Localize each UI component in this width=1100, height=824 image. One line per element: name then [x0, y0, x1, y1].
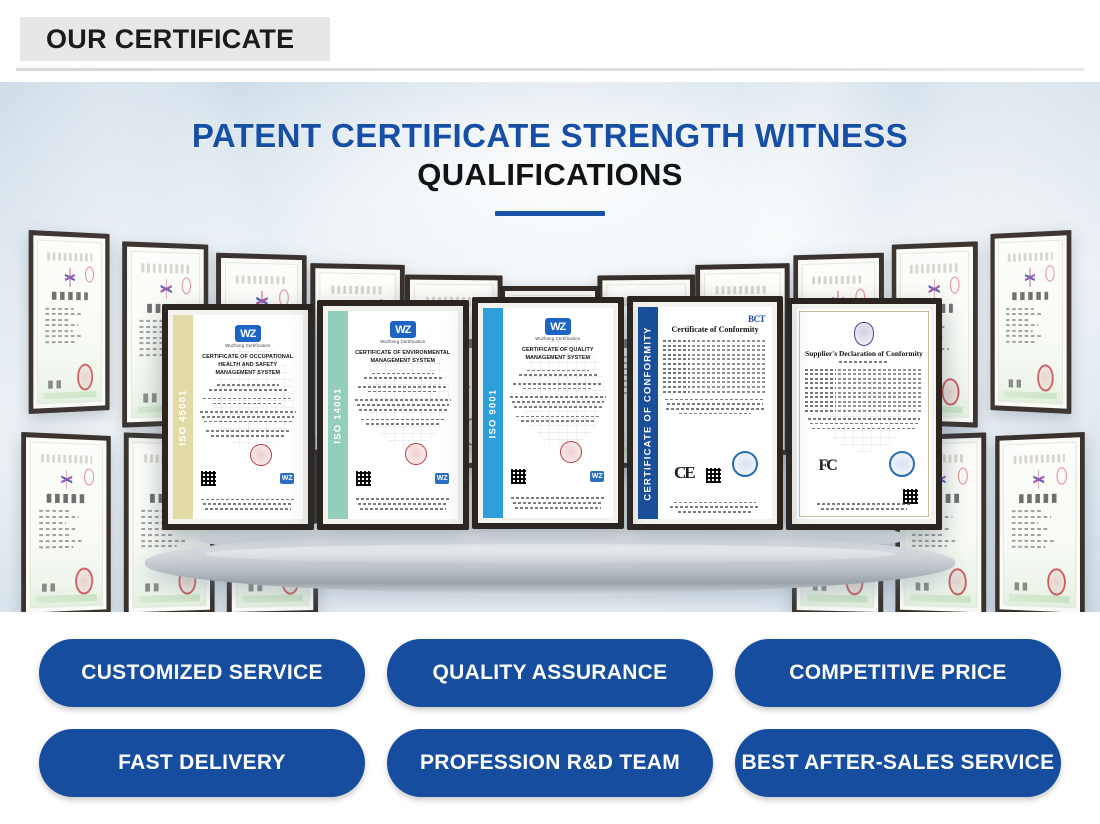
declaration-table — [805, 369, 923, 412]
title-accent-bar — [495, 211, 605, 216]
qr-code-icon — [511, 469, 526, 484]
certificate-title: CERTIFICATE OF QUALITY MANAGEMENT SYSTEM — [508, 347, 609, 363]
certificate-side-band: CERTIFICATE OF CONFORMITY — [638, 307, 658, 519]
feature-button-4[interactable]: FAST DELIVERY — [39, 729, 365, 797]
feature-button-label: COMPETITIVE PRICE — [789, 661, 1006, 685]
front-certificate-certificate-of-conformity[interactable]: CERTIFICATE OF CONFORMITYBCTCertificate … — [627, 296, 783, 530]
ce-mark-icon: CE — [674, 463, 694, 483]
feature-button-label: FAST DELIVERY — [118, 751, 286, 775]
certificate-body: BCTCertificate of ConformityCE — [658, 307, 772, 519]
certificate-paper: Supplier's Declaration of ConformityFC — [797, 309, 931, 519]
qr-code-icon — [356, 471, 371, 486]
certificate-body: WZWuzhong CertificationCERTIFICATE OF EN… — [348, 311, 459, 519]
certificate-paper: CERTIFICATE OF CONFORMITYBCTCertificate … — [638, 307, 772, 519]
certificate-notes — [663, 399, 767, 415]
certificate-title: CERTIFICATE OF OCCUPATIONAL HEALTH AND S… — [198, 354, 299, 377]
certificate-title: CERTIFICATE OF ENVIRONMENTAL MANAGEMENT … — [353, 350, 454, 366]
certifier-name: Wuzhong Certification — [508, 336, 609, 341]
feature-button-grid: CUSTOMIZED SERVICEQUALITY ASSURANCECOMPE… — [0, 612, 1100, 824]
bct-logo-icon: BCT — [748, 314, 765, 324]
page-title: OUR CERTIFICATE — [20, 24, 295, 55]
certificate-body: WZWuzhong CertificationCERTIFICATE OF OC… — [193, 315, 304, 519]
crest-icon — [854, 322, 874, 346]
testing-seal-icon — [732, 451, 758, 477]
red-stamp-icon — [405, 443, 427, 465]
feature-button-5[interactable]: PROFESSION R&D TEAM — [387, 729, 713, 797]
certificate-paper: ISO 9001WZWuzhong CertificationCERTIFICA… — [483, 308, 613, 518]
feature-button-6[interactable]: BEST AFTER-SALES SERVICE — [735, 729, 1061, 797]
certificate-body: Supplier's Declaration of ConformityFC — [797, 309, 931, 519]
banner-title-secondary: QUALIFICATIONS — [0, 157, 1100, 194]
certificate-fineprint — [354, 498, 451, 512]
front-certificate-iso-14001[interactable]: ISO 14001WZWuzhong CertificationCERTIFIC… — [317, 300, 469, 530]
accreditation-badge-icon: WZ — [280, 473, 294, 484]
certificate-side-band: ISO 45001 — [173, 315, 193, 519]
certificate-title: Certificate of Conformity — [663, 325, 767, 334]
accreditation-badge-icon: WZ — [435, 473, 449, 484]
front-certificate-iso-45001[interactable]: ISO 45001WZWuzhong CertificationCERTIFIC… — [162, 304, 314, 530]
qr-code-icon — [706, 468, 721, 483]
banner-title-block: PATENT CERTIFICATE STRENGTH WITNESS QUAL… — [0, 118, 1100, 216]
certificate-side-label: ISO 45001 — [177, 389, 188, 445]
feature-button-label: CUSTOMIZED SERVICE — [81, 661, 323, 685]
red-stamp-icon — [250, 444, 272, 466]
accreditation-badge-icon: WZ — [590, 471, 604, 482]
certificate-body: WZWuzhong CertificationCERTIFICATE OF QU… — [503, 308, 614, 518]
certificate-paper: ISO 14001WZWuzhong CertificationCERTIFIC… — [328, 311, 458, 519]
testing-seal-icon — [889, 451, 915, 477]
wz-logo-icon: WZ — [545, 318, 571, 335]
certificate-fineprint — [810, 503, 917, 513]
qr-code-icon — [201, 471, 216, 486]
header-divider — [16, 68, 1084, 71]
feature-button-label: PROFESSION R&D TEAM — [420, 751, 680, 775]
certificate-fineprint — [199, 499, 296, 513]
certificate-side-label: ISO 9001 — [487, 388, 498, 438]
certificate-fineprint — [509, 497, 606, 511]
feature-button-label: BEST AFTER-SALES SERVICE — [742, 751, 1055, 775]
wz-logo-icon: WZ — [235, 325, 261, 342]
certificate-side-label: ISO 14001 — [332, 387, 343, 443]
certifier-name: Wuzhong Certification — [353, 339, 454, 344]
feature-button-3[interactable]: COMPETITIVE PRICE — [735, 639, 1061, 707]
page-header: OUR CERTIFICATE — [0, 0, 1100, 82]
front-certificate-iso-9001[interactable]: ISO 9001WZWuzhong CertificationCERTIFICA… — [472, 297, 624, 529]
front-certificate-suppliers-declaration[interactable]: Supplier's Declaration of ConformityFC — [786, 298, 942, 530]
conformity-table — [663, 340, 767, 393]
fcc-mark-icon: FC — [818, 457, 835, 475]
feature-button-label: QUALITY ASSURANCE — [433, 661, 668, 685]
certificate-notes — [805, 418, 923, 429]
feature-button-2[interactable]: QUALITY ASSURANCE — [387, 639, 713, 707]
certificate-page: OUR CERTIFICATE PATENT CERTIFICATE STREN… — [0, 0, 1100, 824]
certificate-paper: ISO 45001WZWuzhong CertificationCERTIFIC… — [173, 315, 303, 519]
certifier-name: Wuzhong Certification — [198, 343, 299, 348]
certificate-side-label: CERTIFICATE OF CONFORMITY — [643, 326, 654, 500]
feature-button-1[interactable]: CUSTOMIZED SERVICE — [39, 639, 365, 707]
certificate-fineprint — [667, 502, 763, 513]
certificate-banner: PATENT CERTIFICATE STRENGTH WITNESS QUAL… — [0, 82, 1100, 612]
certificate-side-band: ISO 14001 — [328, 311, 348, 519]
certificate-side-band: ISO 9001 — [483, 308, 503, 518]
banner-title-primary: PATENT CERTIFICATE STRENGTH WITNESS — [0, 118, 1100, 155]
wz-logo-icon: WZ — [390, 321, 416, 338]
section-title-chip: OUR CERTIFICATE — [20, 17, 330, 61]
certificate-title: Supplier's Declaration of Conformity — [805, 349, 923, 358]
qr-code-icon — [903, 489, 918, 504]
red-stamp-icon — [560, 441, 582, 463]
